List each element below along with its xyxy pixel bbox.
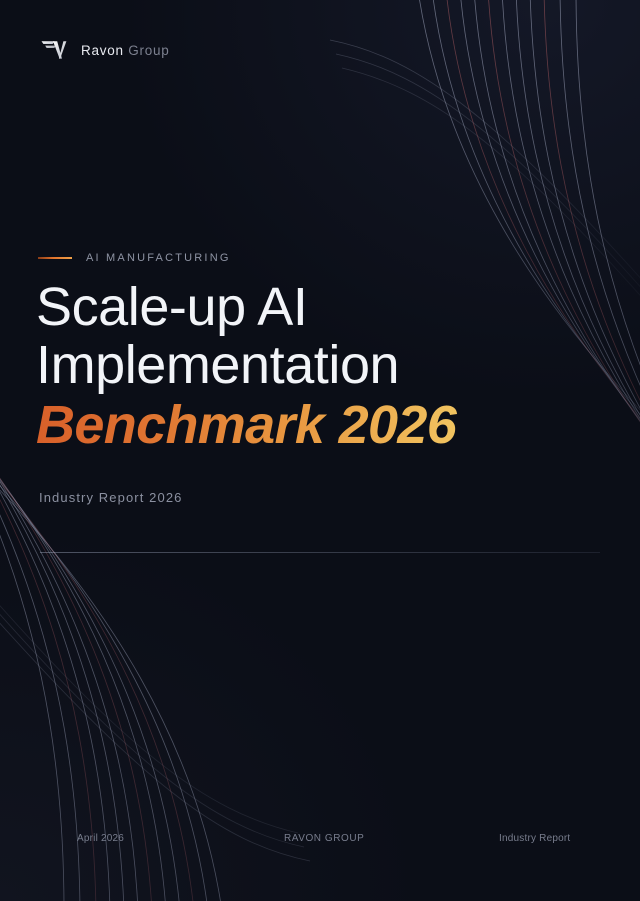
page-title: Scale-up AI Implementation Benchmark 202… xyxy=(36,278,596,460)
report-subtitle: Industry Report 2026 xyxy=(39,490,183,505)
brand-logo[interactable]: Ravon Group xyxy=(38,38,169,62)
report-cover-page: Ravon Group AI MANUFACTURING Scale-up AI… xyxy=(0,0,640,901)
brand-name: Ravon Group xyxy=(81,43,169,58)
gradient-rule-icon xyxy=(38,257,72,259)
footer-organization: RAVON GROUP xyxy=(284,833,364,844)
ravon-chevron-v-icon xyxy=(38,38,68,62)
brand-name-primary: Ravon xyxy=(81,43,124,58)
brand-name-secondary: Group xyxy=(128,43,169,58)
footer: April 2026 RAVON GROUP Industry Report xyxy=(0,833,640,853)
title-line-2: Implementation xyxy=(36,336,596,394)
category-eyebrow: AI MANUFACTURING xyxy=(38,252,231,264)
category-label: AI MANUFACTURING xyxy=(86,252,231,264)
title-line-1: Scale-up AI xyxy=(36,278,596,336)
horizontal-divider xyxy=(40,552,600,553)
title-accent-line: Benchmark 2026 xyxy=(36,394,596,460)
footer-date: April 2026 xyxy=(77,833,124,844)
footer-document-type: Industry Report xyxy=(499,833,570,844)
